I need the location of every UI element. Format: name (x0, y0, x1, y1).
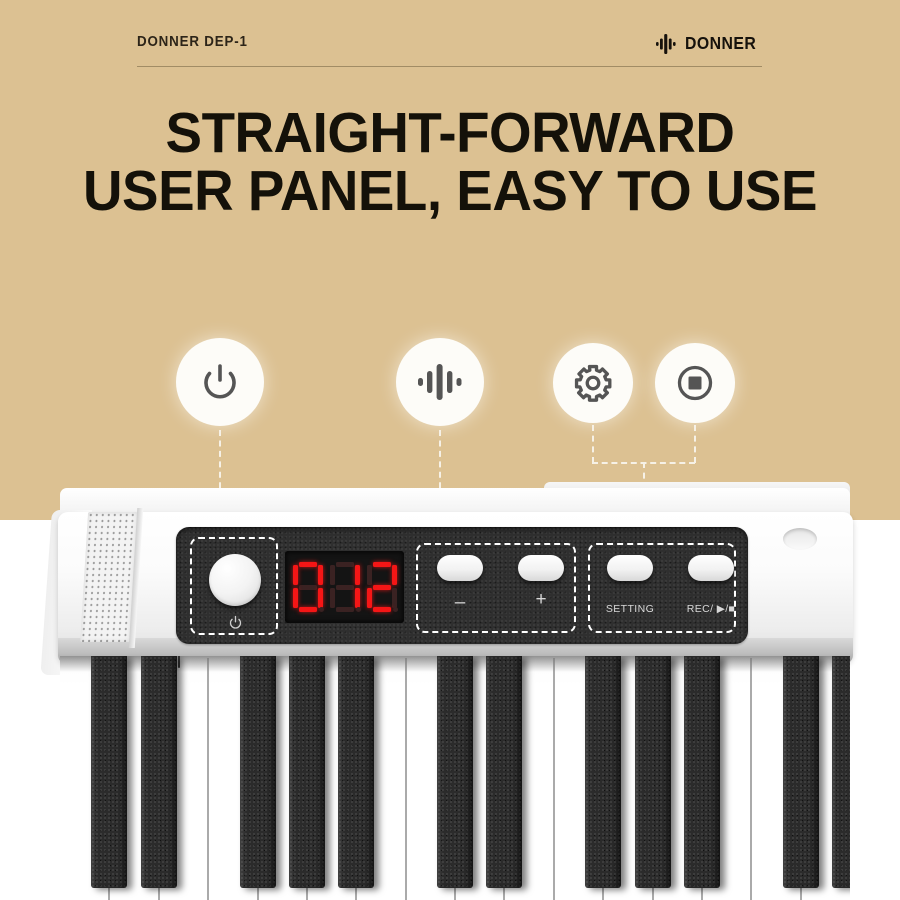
gear-icon (572, 362, 614, 404)
brand-name: DONNER (685, 34, 756, 55)
power-button-label (219, 615, 251, 630)
stop-record-icon (674, 362, 716, 404)
callout-setting (553, 343, 633, 423)
power-icon (198, 360, 242, 404)
volume-down-button[interactable] (437, 555, 483, 581)
led-display (285, 551, 404, 623)
connector-setting (592, 425, 594, 463)
white-key-separator[interactable] (405, 658, 407, 900)
record-button[interactable] (688, 555, 734, 581)
plus-icon: + (518, 593, 564, 607)
callout-record (655, 343, 735, 423)
power-icon (228, 615, 243, 630)
page-title: STRAIGHT-FORWARD USER PANEL, EASY TO USE (0, 104, 900, 220)
control-panel: – + SETTING REC/ ▶/■ (176, 527, 748, 644)
top-banner: DONNER DEP-1 DONNER STRAIGHT-FORWARD USE… (0, 0, 900, 520)
keyboard-photo: – + SETTING REC/ ▶/■ (0, 470, 900, 900)
black-key[interactable] (289, 656, 325, 888)
black-key[interactable] (585, 656, 621, 888)
chassis-right-indent (783, 528, 817, 550)
led-digit-1 (293, 562, 323, 612)
black-key[interactable] (635, 656, 671, 888)
white-key-separator[interactable] (553, 658, 555, 900)
page-header: DONNER DEP-1 DONNER (137, 30, 762, 62)
black-key[interactable] (240, 656, 276, 888)
record-button-label: REC/ ▶/■ (668, 603, 754, 615)
minus-icon: – (437, 596, 483, 610)
white-key-separator[interactable] (750, 658, 752, 900)
callout-power (176, 338, 264, 426)
waveform-icon (656, 34, 678, 54)
black-key[interactable] (783, 656, 819, 888)
led-digit-2 (330, 562, 360, 612)
black-key[interactable] (141, 656, 177, 888)
power-button[interactable] (209, 554, 261, 606)
white-key-separator[interactable] (207, 658, 209, 900)
black-key[interactable] (684, 656, 720, 888)
black-key[interactable] (437, 656, 473, 888)
brand-logo: DONNER (656, 30, 762, 58)
black-key[interactable] (832, 656, 850, 888)
model-label: DONNER DEP-1 (137, 34, 248, 50)
headline-line-2: USER PANEL, EASY TO USE (18, 162, 882, 220)
volume-up-button[interactable] (518, 555, 564, 581)
setting-button[interactable] (607, 555, 653, 581)
black-key[interactable] (338, 656, 374, 888)
connector-record (694, 425, 696, 463)
headline-line-1: STRAIGHT-FORWARD (18, 104, 882, 162)
led-digit-3 (367, 562, 397, 612)
header-divider (137, 66, 762, 67)
callout-sound (396, 338, 484, 426)
black-key[interactable] (91, 656, 127, 888)
black-key[interactable] (486, 656, 522, 888)
piano-keys (60, 656, 850, 900)
waveform-icon (417, 362, 463, 402)
cable (178, 656, 180, 668)
setting-button-label: SETTING (587, 603, 673, 615)
